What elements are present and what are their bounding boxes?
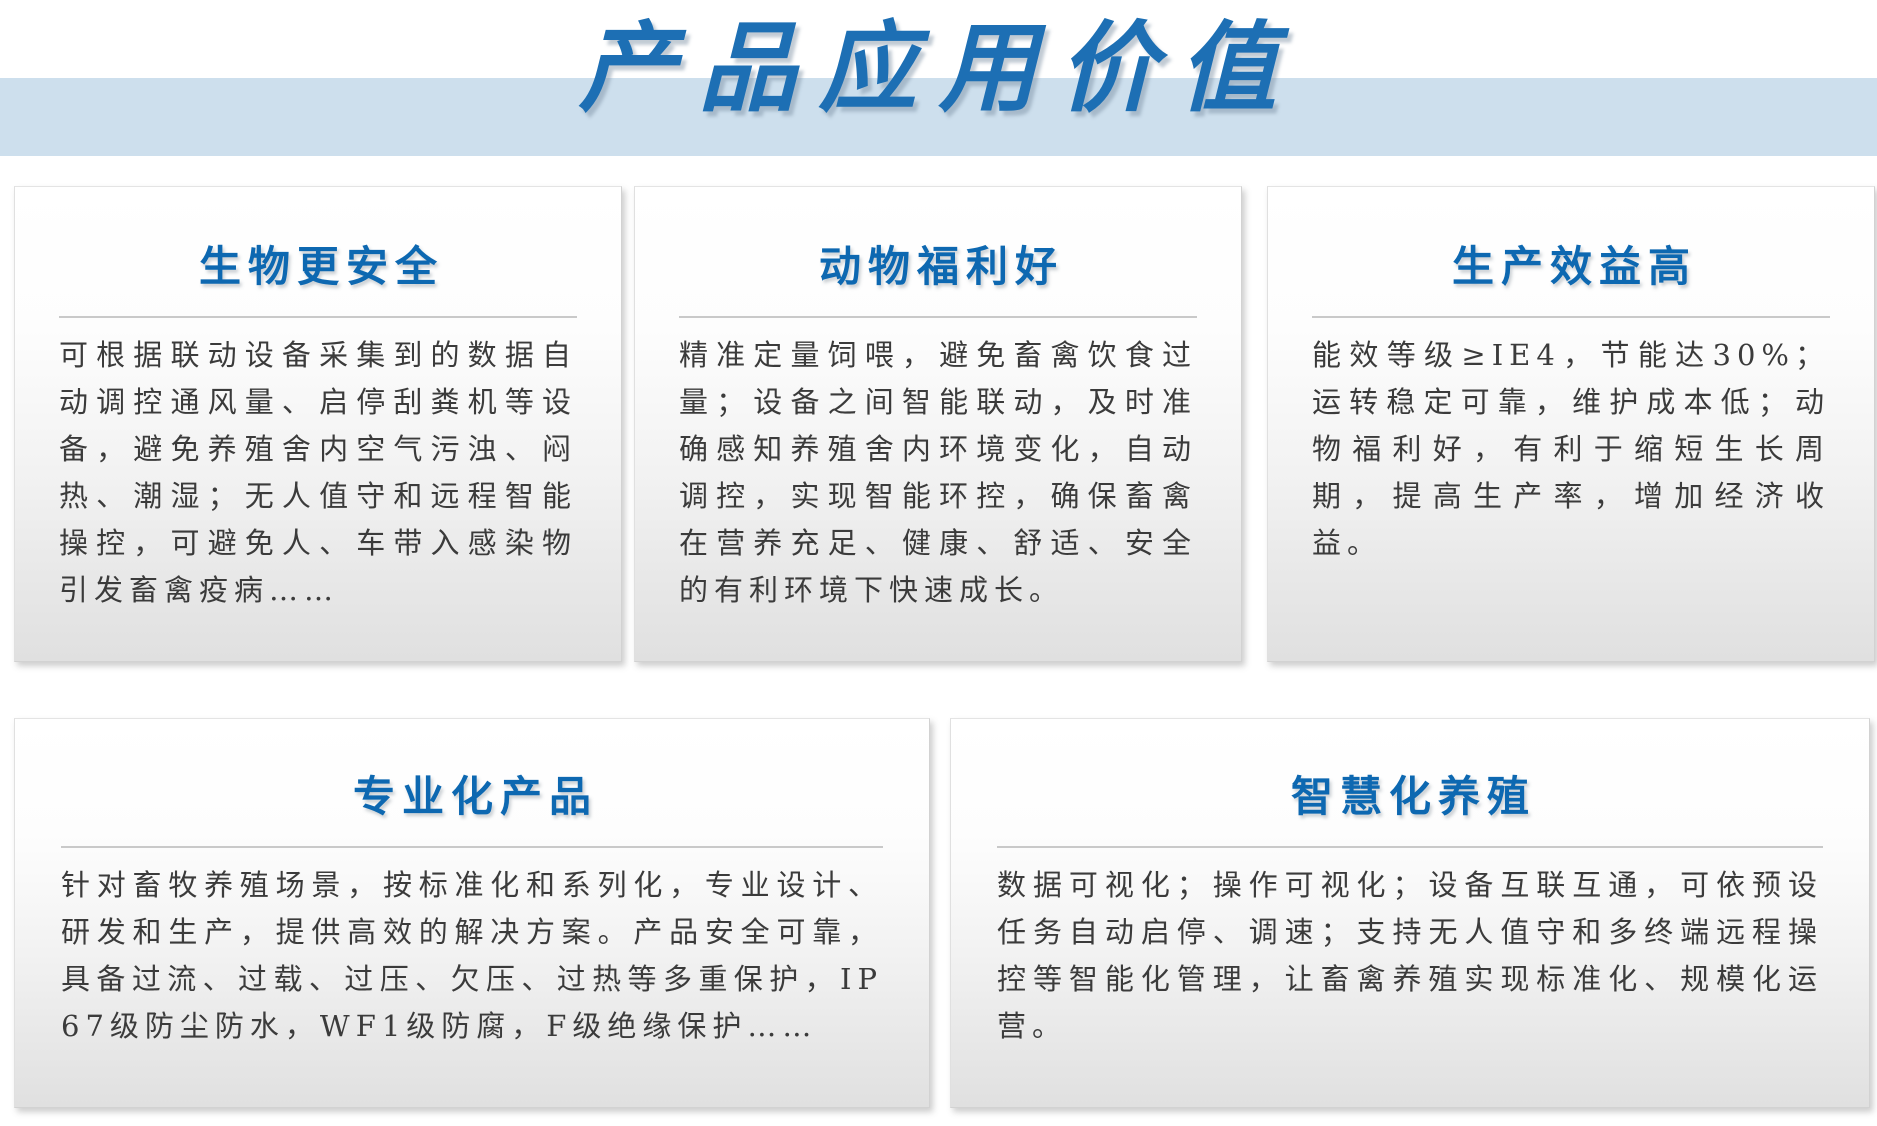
page-title: 产品应用价值	[0, 8, 1877, 130]
card-title: 动物福利好	[635, 233, 1241, 294]
card-smart-breeding[interactable]: 智慧化养殖 数据可视化；操作可视化；设备互联互通，可依预设任务自动启停、调速；支…	[950, 718, 1870, 1108]
card-divider	[1312, 316, 1830, 318]
card-title: 生物更安全	[15, 233, 621, 294]
card-biosecurity[interactable]: 生物更安全 可根据联动设备采集到的数据自动调控通风量、启停刮粪机等设备，避免养殖…	[14, 186, 622, 662]
card-body: 可根据联动设备采集到的数据自动调控通风量、启停刮粪机等设备，避免养殖舍内空气污浊…	[59, 332, 577, 614]
card-divider	[679, 316, 1197, 318]
card-divider	[61, 846, 883, 848]
card-professional-products[interactable]: 专业化产品 针对畜牧养殖场景，按标准化和系列化，专业设计、研发和生产，提供高效的…	[14, 718, 930, 1108]
card-title: 智慧化养殖	[951, 763, 1869, 824]
card-animal-welfare[interactable]: 动物福利好 精准定量饲喂，避免畜禽饮食过量；设备之间智能联动，及时准确感知养殖舍…	[634, 186, 1242, 662]
card-divider	[59, 316, 577, 318]
card-production-efficiency[interactable]: 生产效益高 能效等级≥IE4，节能达30%；运转稳定可靠，维护成本低；动物福利好…	[1267, 186, 1875, 662]
card-body: 针对畜牧养殖场景，按标准化和系列化，专业设计、研发和生产，提供高效的解决方案。产…	[61, 862, 883, 1050]
card-title: 专业化产品	[15, 763, 929, 824]
cards-area: 生物更安全 可根据联动设备采集到的数据自动调控通风量、启停刮粪机等设备，避免养殖…	[0, 186, 1877, 1116]
card-body: 数据可视化；操作可视化；设备互联互通，可依预设任务自动启停、调速；支持无人值守和…	[997, 862, 1823, 1050]
page-root: 产品应用价值 生物更安全 可根据联动设备采集到的数据自动调控通风量、启停刮粪机等…	[0, 0, 1877, 1126]
card-body: 能效等级≥IE4，节能达30%；运转稳定可靠，维护成本低；动物福利好，有利于缩短…	[1312, 332, 1830, 567]
card-title: 生产效益高	[1268, 233, 1874, 294]
card-body: 精准定量饲喂，避免畜禽饮食过量；设备之间智能联动，及时准确感知养殖舍内环境变化，…	[679, 332, 1197, 614]
card-divider	[997, 846, 1823, 848]
